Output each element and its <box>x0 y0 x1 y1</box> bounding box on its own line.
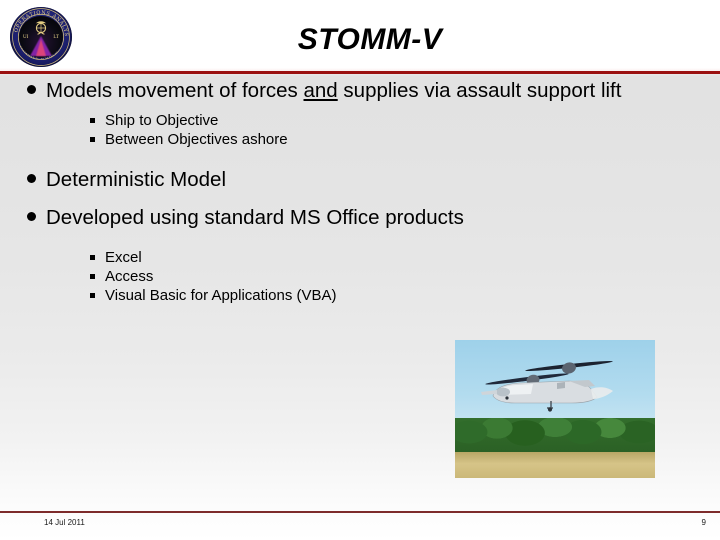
photo-treeline <box>455 418 655 456</box>
slide-header: OPERATIONS ANALYSIS DIVISION MARINE CORP… <box>0 0 720 72</box>
sub-bullet-text-2: Between Objectives ashore <box>105 131 288 148</box>
sub-bullet-item-1: Ship to Objective <box>0 111 720 130</box>
mv22-osprey-photo <box>455 340 655 478</box>
sub-bullet-item-2: Between Objectives ashore <box>0 130 720 149</box>
sub-bullet-item-3: Excel <box>0 248 720 267</box>
seal-core: UI LT <box>19 16 63 58</box>
sub-bullet-text-4: Access <box>105 268 153 285</box>
seal-outer-ring: OPERATIONS ANALYSIS DIVISION MARINE CORP… <box>10 7 72 67</box>
bullet-text-1: Models movement of forces and supplies v… <box>46 79 621 102</box>
bullet-marker-square <box>90 137 95 142</box>
bullet-item-3: Developed using standard MS Office produ… <box>0 205 720 230</box>
header-divider <box>0 71 720 74</box>
spacer <box>0 149 720 167</box>
seal-right-glyph: LT <box>53 35 59 40</box>
spacer <box>0 192 720 205</box>
bullet-marker-square <box>90 293 95 298</box>
bullet-text-1-part-a: Models movement of forces <box>46 79 304 102</box>
usmc-seal-logo: OPERATIONS ANALYSIS DIVISION MARINE CORP… <box>10 7 72 67</box>
sub-bullet-item-5: Visual Basic for Applications (VBA) <box>0 286 720 305</box>
seal-plume-inner <box>36 39 46 56</box>
sub-bullet-text-3: Excel <box>105 249 142 266</box>
page-title: STOMM-V <box>90 22 650 58</box>
eagle-globe-anchor-icon <box>34 19 49 35</box>
bullet-marker-square <box>90 255 95 260</box>
footer-page-number: 9 <box>702 518 706 527</box>
sub-bullet-text-5: Visual Basic for Applications (VBA) <box>105 287 337 304</box>
spacer <box>0 230 720 248</box>
bullet-item-1: Models movement of forces and supplies v… <box>0 78 720 103</box>
bullet-text-2: Deterministic Model <box>46 168 226 191</box>
bullet-marker-square <box>90 274 95 279</box>
seal-left-glyph: UI <box>23 35 28 40</box>
photo-field <box>455 452 655 478</box>
bullet-marker-round <box>27 85 36 94</box>
bullet-marker-round <box>27 174 36 183</box>
bullet-text-3: Developed using standard MS Office produ… <box>46 206 464 229</box>
sub-bullet-item-4: Access <box>0 267 720 286</box>
osprey-aircraft-icon <box>473 356 621 418</box>
sub-bullet-text-1: Ship to Objective <box>105 112 218 129</box>
bullet-marker-square <box>90 118 95 123</box>
bullet-text-1-emphasis: and <box>304 79 338 102</box>
footer-date: 14 Jul 2011 <box>44 518 85 527</box>
spacer <box>0 103 720 111</box>
bullet-item-2: Deterministic Model <box>0 167 720 192</box>
footer-divider <box>0 511 720 513</box>
bullet-marker-round <box>27 212 36 221</box>
bullet-text-1-part-b: supplies via assault support lift <box>338 79 622 102</box>
presentation-slide: OPERATIONS ANALYSIS DIVISION MARINE CORP… <box>0 0 720 540</box>
